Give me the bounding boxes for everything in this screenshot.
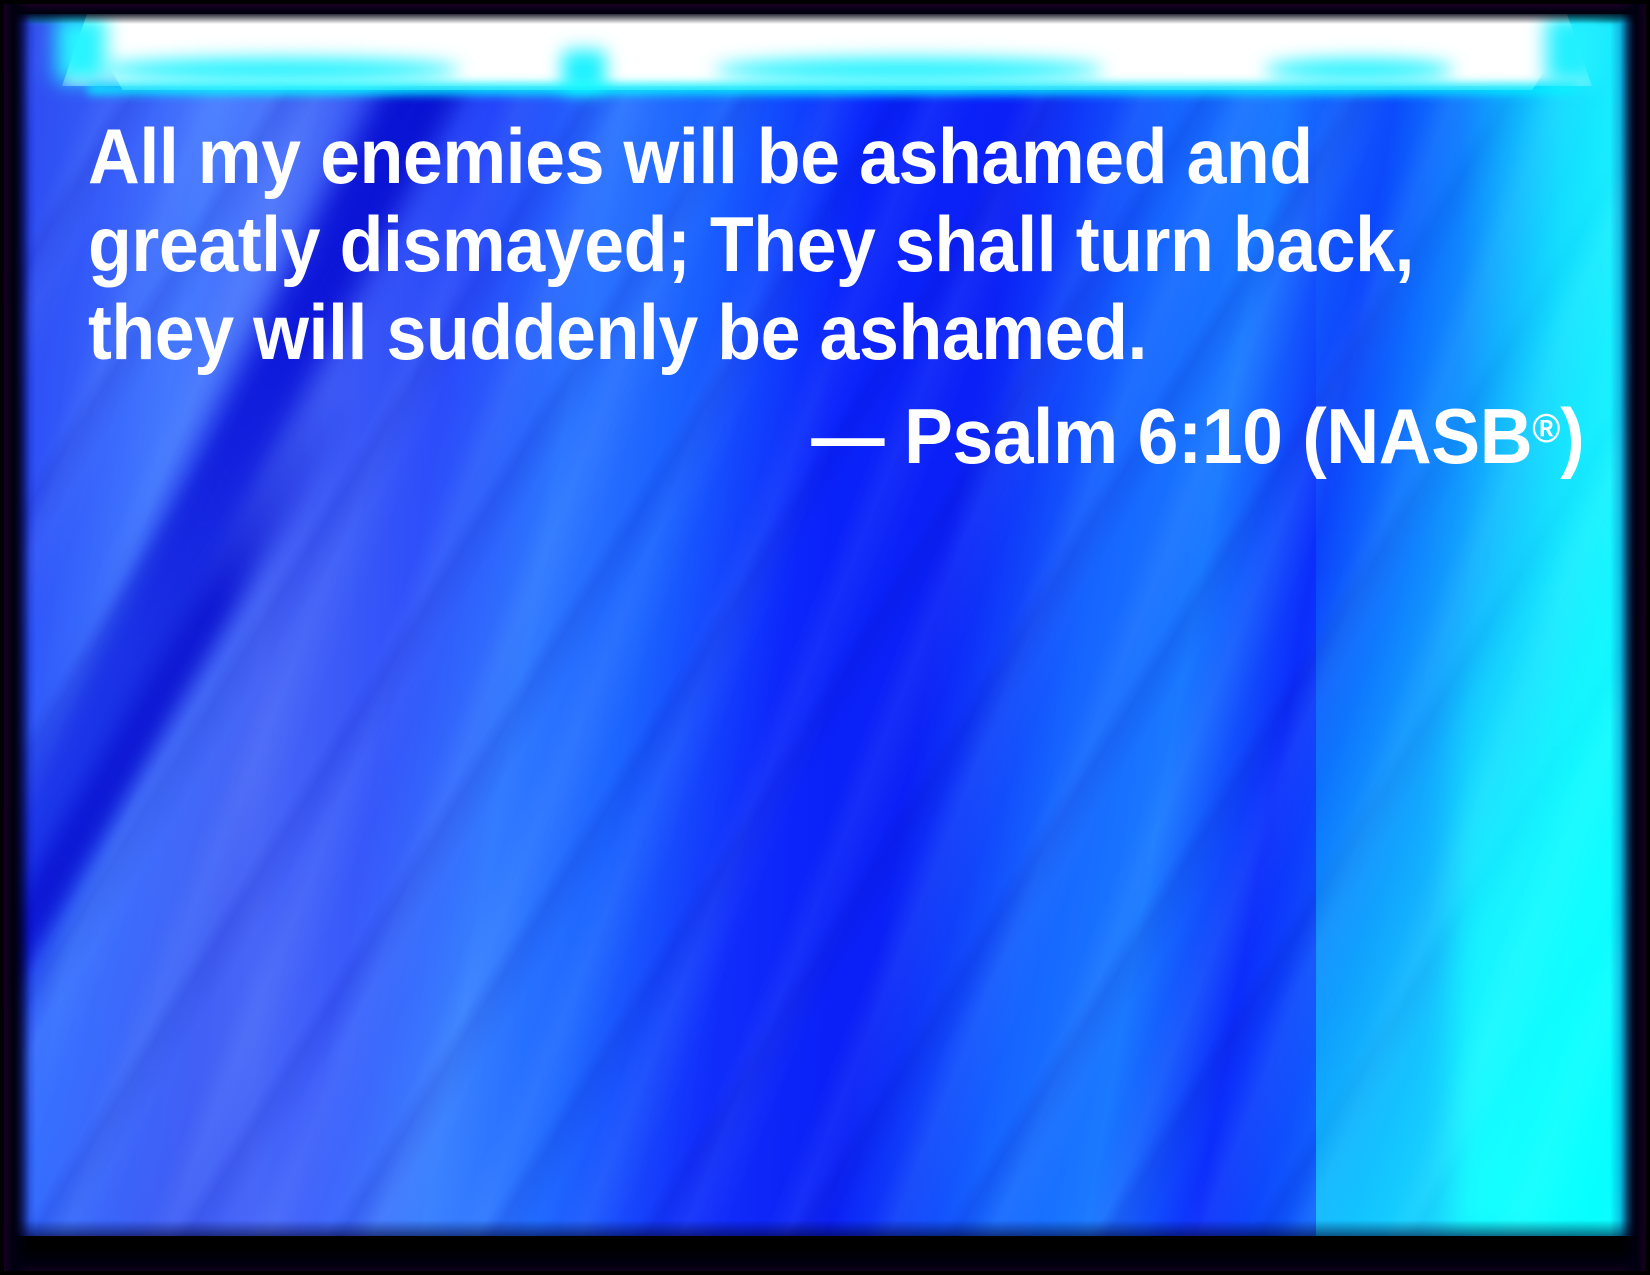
slide-frame: All my enemies will be ashamed and great… <box>0 0 1650 1275</box>
cyan-underline-glow <box>88 84 1578 94</box>
cyan-bottom-right-core <box>1454 476 1624 1236</box>
attribution-book: Psalm <box>904 392 1118 480</box>
cyan-wisp-middle <box>714 58 1104 82</box>
cyan-cap-right <box>1546 16 1600 84</box>
cyan-wisp-right <box>1264 59 1454 81</box>
cyan-wisp-left <box>100 58 460 82</box>
verse-text-block: All my enemies will be ashamed and great… <box>88 112 1588 480</box>
registered-trademark-icon: ® <box>1532 405 1560 451</box>
left-edge-shading <box>14 14 36 1236</box>
cyan-cap-left <box>56 16 106 82</box>
right-edge-shading <box>1610 14 1636 1236</box>
verse-line-2: greatly dismayed; They shall turn back, <box>88 200 1468 288</box>
verse-line-3: they will suddenly be ashamed. <box>88 288 1468 376</box>
verse-attribution: — Psalm 6:10 (NASB®) <box>178 384 1588 480</box>
attribution-dash: — <box>811 392 884 480</box>
verse-line-1: All my enemies will be ashamed and <box>88 112 1468 200</box>
attribution-translation-close: ) <box>1560 392 1584 480</box>
bottom-edge-shading <box>14 1220 1636 1236</box>
attribution-chapter-verse: 6:10 <box>1138 392 1283 480</box>
attribution-translation-open: (NASB <box>1302 392 1532 480</box>
